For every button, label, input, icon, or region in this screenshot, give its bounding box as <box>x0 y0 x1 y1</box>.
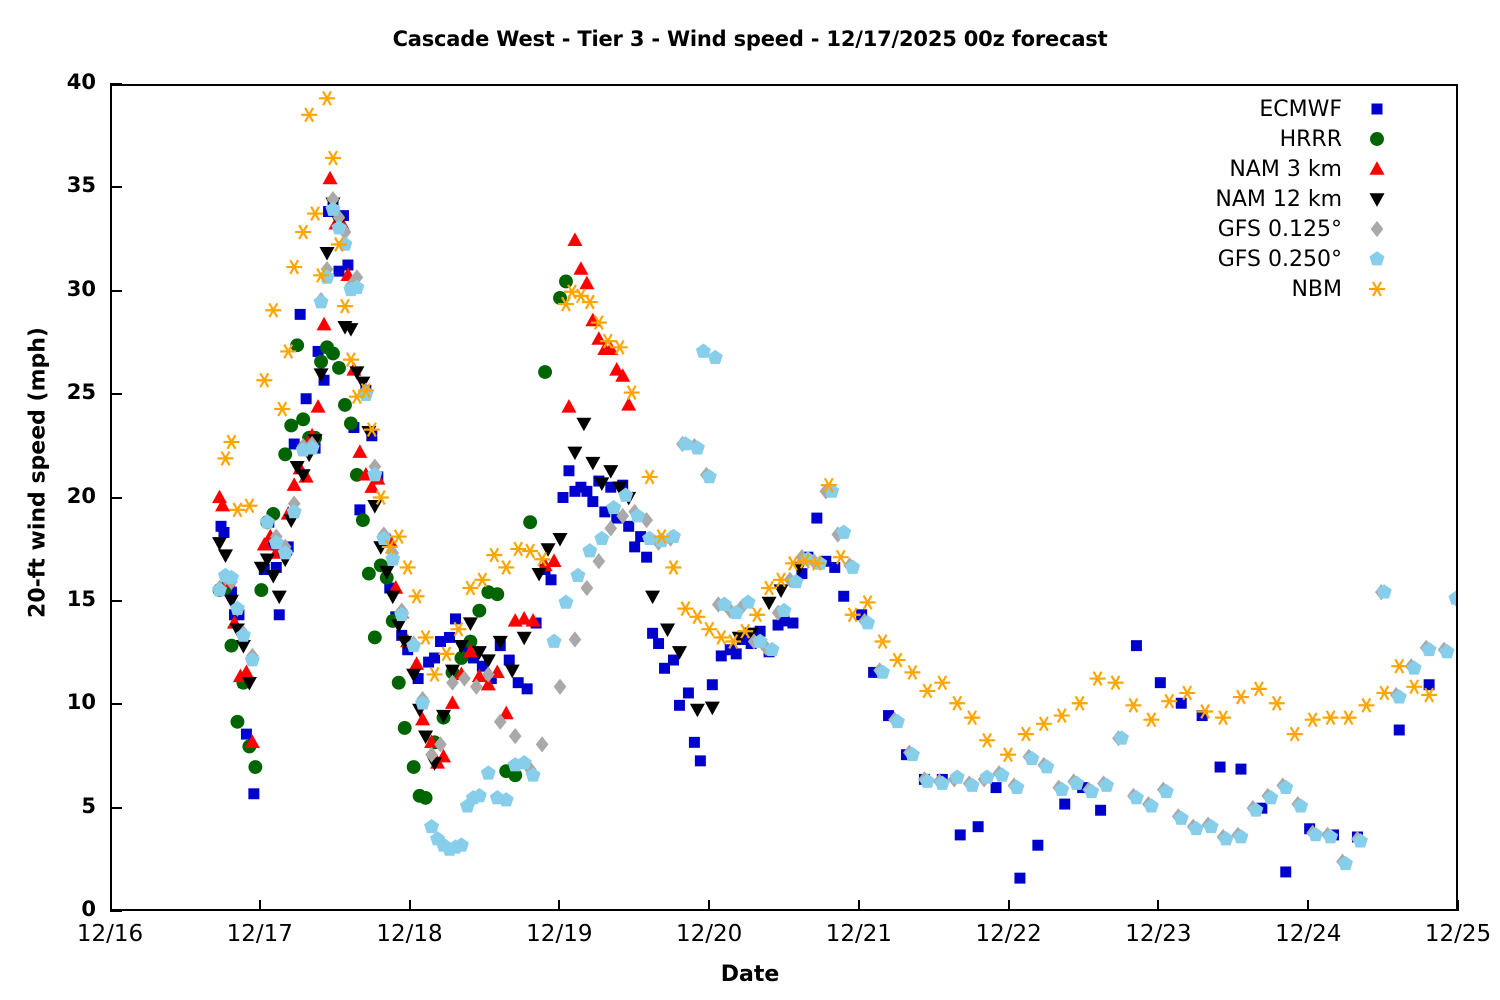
y-tick-label: 10 <box>16 690 96 714</box>
y-tick-label: 30 <box>16 277 96 301</box>
data-point <box>950 769 965 783</box>
data-point <box>385 591 400 605</box>
data-point <box>579 276 594 290</box>
x-tick-label: 12/23 <box>1083 921 1233 947</box>
data-point <box>523 515 537 529</box>
legend-item-nam-3-km[interactable]: NAM 3 km <box>1140 154 1390 184</box>
data-point <box>949 696 965 710</box>
x-tick-label: 12/21 <box>784 921 934 947</box>
data-point <box>407 760 421 774</box>
data-point <box>641 552 652 563</box>
pentagon-marker-icon <box>1364 246 1390 272</box>
data-point <box>964 711 980 725</box>
data-point <box>919 684 935 698</box>
data-point <box>708 350 723 364</box>
data-point <box>1155 677 1166 688</box>
data-point <box>394 607 409 621</box>
data-point <box>569 631 582 647</box>
legend-item-label: GFS 0.125° <box>1218 217 1364 242</box>
data-point <box>337 299 353 313</box>
data-point <box>225 639 239 653</box>
data-point <box>256 373 272 387</box>
y-tick-label: 20 <box>16 484 96 508</box>
legend-item-nam-12-km[interactable]: NAM 12 km <box>1140 184 1390 214</box>
data-point <box>749 608 765 622</box>
data-point <box>472 788 487 802</box>
x-tick-label: 12/25 <box>1383 921 1500 947</box>
data-point <box>787 618 798 629</box>
data-point <box>278 447 292 461</box>
data-point <box>317 317 332 331</box>
data-point <box>668 655 679 666</box>
data-point <box>212 490 227 504</box>
data-point <box>241 729 252 740</box>
data-point <box>287 504 302 518</box>
data-point <box>266 570 281 584</box>
data-point <box>690 704 705 718</box>
data-point <box>474 573 490 587</box>
data-point <box>689 610 705 624</box>
wind-speed-scatter-chart: Cascade West - Tier 3 - Wind speed - 12/… <box>0 0 1500 1000</box>
data-point <box>505 665 520 679</box>
data-point <box>538 365 552 379</box>
data-point <box>254 583 268 597</box>
data-point <box>325 151 341 165</box>
data-point <box>558 595 573 609</box>
x-axis-label: Date <box>0 962 1500 987</box>
data-point <box>623 521 634 532</box>
data-point <box>1114 730 1129 744</box>
data-point <box>286 260 302 274</box>
data-point <box>356 513 370 527</box>
data-point <box>1095 805 1106 816</box>
data-point <box>1032 840 1043 851</box>
data-point <box>490 587 504 601</box>
data-point <box>284 419 298 433</box>
data-point <box>415 712 430 726</box>
data-point <box>600 334 616 348</box>
data-point <box>314 355 328 369</box>
data-point <box>860 596 876 610</box>
data-point <box>581 486 592 497</box>
data-point <box>594 531 609 545</box>
data-point <box>1448 590 1456 604</box>
chart-legend: ECMWFHRRRNAM 3 kmNAM 12 kmGFS 0.125°GFS … <box>1140 94 1390 304</box>
legend-item-label: NBM <box>1291 277 1364 302</box>
triangle-up-marker-icon <box>1364 156 1390 182</box>
data-point <box>274 402 290 416</box>
data-point <box>606 500 621 514</box>
data-point <box>409 589 425 603</box>
data-point <box>218 452 234 466</box>
data-point <box>536 736 549 752</box>
data-point <box>838 591 849 602</box>
data-point <box>367 467 382 481</box>
data-point <box>558 492 569 503</box>
data-point <box>678 436 693 450</box>
square-marker-icon <box>1364 96 1390 122</box>
data-point <box>701 622 717 636</box>
data-point <box>836 525 851 539</box>
data-point <box>629 541 640 552</box>
data-point <box>265 303 281 317</box>
data-point <box>1000 748 1016 762</box>
data-point <box>295 309 306 320</box>
legend-item-nbm[interactable]: NBM <box>1140 274 1390 304</box>
data-point <box>890 653 906 667</box>
data-point <box>1280 866 1291 877</box>
data-point <box>301 108 317 122</box>
data-point <box>561 399 576 413</box>
data-point <box>576 418 591 432</box>
data-point <box>362 567 376 581</box>
data-point <box>1014 873 1025 884</box>
data-point <box>934 676 950 690</box>
x-tick-label: 12/16 <box>35 921 185 947</box>
data-point <box>683 687 694 698</box>
data-point <box>462 581 478 595</box>
data-point <box>332 361 346 375</box>
data-point <box>338 398 352 412</box>
data-point <box>762 597 777 611</box>
data-point <box>352 444 367 458</box>
triangle-down-marker-icon <box>1364 186 1390 212</box>
data-point <box>811 513 822 524</box>
data-point <box>695 755 706 766</box>
data-point <box>1341 711 1357 725</box>
data-point <box>567 232 582 246</box>
legend-item-label: HRRR <box>1280 127 1364 152</box>
data-point <box>1235 764 1246 775</box>
data-point <box>323 171 338 185</box>
data-point <box>248 788 259 799</box>
data-point <box>486 548 502 562</box>
data-point <box>454 837 469 851</box>
data-point <box>991 782 1002 793</box>
data-point <box>517 632 532 646</box>
data-point <box>761 581 777 595</box>
data-point <box>647 628 658 639</box>
data-point <box>603 465 618 479</box>
data-point <box>212 537 227 551</box>
data-point <box>424 819 439 833</box>
y-tick-label: 25 <box>16 380 96 404</box>
data-point <box>660 624 675 638</box>
data-point <box>400 561 416 575</box>
data-point <box>326 347 340 361</box>
data-point <box>1287 727 1303 741</box>
data-point <box>1406 680 1422 694</box>
data-point <box>582 543 597 557</box>
x-tick-label: 12/18 <box>335 921 485 947</box>
data-point <box>219 527 230 538</box>
legend-item-label: NAM 12 km <box>1215 187 1364 212</box>
data-point <box>409 656 424 670</box>
data-point <box>427 668 443 682</box>
data-point <box>1131 640 1142 651</box>
data-point <box>731 648 742 659</box>
data-point <box>517 755 532 769</box>
legend-item-hrrr[interactable]: HRRR <box>1140 124 1390 154</box>
data-point <box>546 574 557 585</box>
x-tick-label: 12/17 <box>185 921 335 947</box>
data-point <box>624 386 640 400</box>
data-point <box>301 393 312 404</box>
legend-item-label: NAM 3 km <box>1229 157 1364 182</box>
x-tick-label: 12/19 <box>484 921 634 947</box>
data-point <box>570 568 585 582</box>
circle-marker-icon <box>1364 126 1390 152</box>
data-point <box>585 457 600 471</box>
data-point <box>875 635 891 649</box>
data-point <box>522 683 533 694</box>
data-point <box>472 604 486 618</box>
y-tick-label: 40 <box>16 70 96 94</box>
data-point <box>1215 762 1226 773</box>
data-point <box>591 331 606 345</box>
data-point <box>498 561 514 575</box>
data-point <box>510 542 526 556</box>
data-point <box>1358 698 1374 712</box>
series-ecmwf <box>216 202 1435 884</box>
data-point <box>1090 672 1106 686</box>
legend-item-ecmwf[interactable]: ECMWF <box>1140 94 1390 124</box>
data-point <box>287 477 302 491</box>
data-point <box>311 399 326 413</box>
data-point <box>307 207 323 221</box>
y-tick-label: 15 <box>16 587 96 611</box>
data-point <box>296 412 310 426</box>
data-point <box>230 715 244 729</box>
data-point <box>674 700 685 711</box>
y-tick-label: 0 <box>16 897 96 921</box>
data-point <box>392 676 406 690</box>
legend-item-gfs-0-125[interactable]: GFS 0.125° <box>1140 214 1390 244</box>
data-point <box>344 417 358 431</box>
data-point <box>741 595 756 609</box>
data-point <box>1059 799 1070 810</box>
data-point <box>444 632 455 643</box>
data-point <box>563 465 574 476</box>
data-point <box>581 580 594 596</box>
data-point <box>776 603 791 617</box>
data-point <box>689 737 700 748</box>
data-point <box>573 261 588 275</box>
data-point <box>522 544 538 558</box>
data-point <box>1125 698 1141 712</box>
data-point <box>419 791 433 805</box>
data-point <box>973 821 984 832</box>
data-point <box>705 702 720 716</box>
diamond-marker-icon <box>1364 216 1390 242</box>
data-point <box>376 531 391 545</box>
data-point <box>707 679 718 690</box>
data-point <box>1394 725 1405 736</box>
legend-item-gfs-0-250[interactable]: GFS 0.250° <box>1140 244 1390 274</box>
data-point <box>1036 717 1052 731</box>
data-point <box>1376 686 1392 700</box>
data-point <box>481 765 496 779</box>
data-point <box>509 728 522 744</box>
data-point <box>1176 698 1187 709</box>
chart-title: Cascade West - Tier 3 - Wind speed - 12/… <box>0 27 1500 51</box>
data-point <box>1269 696 1285 710</box>
data-point <box>504 655 515 666</box>
data-point <box>368 630 382 644</box>
data-point <box>272 591 287 605</box>
data-point <box>1215 711 1231 725</box>
data-point <box>979 733 995 747</box>
data-point <box>653 638 664 649</box>
data-point <box>398 721 412 735</box>
data-point <box>582 295 598 309</box>
data-point <box>1161 694 1177 708</box>
y-tick-label: 5 <box>16 794 96 818</box>
data-point <box>547 634 562 648</box>
data-point <box>429 653 440 664</box>
data-point <box>774 584 789 598</box>
data-point <box>274 609 285 620</box>
data-point <box>245 652 260 666</box>
data-point <box>559 275 573 289</box>
data-point <box>320 247 335 261</box>
data-point <box>1108 676 1124 690</box>
data-point <box>1323 711 1339 725</box>
data-point <box>445 695 460 709</box>
data-point <box>439 647 455 661</box>
data-point <box>295 225 311 239</box>
data-point <box>904 665 920 679</box>
data-point <box>223 435 239 449</box>
data-point <box>829 562 840 573</box>
data-point <box>367 500 382 514</box>
data-point <box>314 294 329 308</box>
data-point <box>1143 713 1159 727</box>
data-point <box>1072 696 1088 710</box>
data-point <box>1377 584 1392 598</box>
data-point <box>1018 727 1034 741</box>
data-point <box>1305 713 1321 727</box>
data-point <box>587 496 598 507</box>
data-point <box>1054 709 1070 723</box>
y-axis-label: 20-ft wind speed (mph) <box>26 273 51 673</box>
data-point <box>642 470 658 484</box>
data-point <box>1251 682 1267 696</box>
data-point <box>980 769 995 783</box>
data-point <box>1233 690 1249 704</box>
legend-item-label: GFS 0.250° <box>1218 247 1364 272</box>
x-tick-label: 12/20 <box>634 921 784 947</box>
data-point <box>343 353 359 367</box>
data-point <box>955 829 966 840</box>
data-point <box>567 447 582 461</box>
data-point <box>645 591 660 605</box>
asterisk-marker-icon <box>1364 276 1390 302</box>
data-point <box>248 760 262 774</box>
legend-item-label: ECMWF <box>1259 97 1364 122</box>
x-tick-label: 12/22 <box>934 921 1084 947</box>
data-point <box>554 679 567 695</box>
data-point <box>666 561 682 575</box>
data-point <box>677 602 693 616</box>
y-tick-label: 35 <box>16 173 96 197</box>
data-point <box>415 695 430 709</box>
data-point <box>319 91 335 105</box>
data-point <box>696 344 711 358</box>
x-tick-label: 12/24 <box>1233 921 1383 947</box>
data-point <box>218 549 233 563</box>
data-point <box>418 631 434 645</box>
data-point <box>1391 659 1407 673</box>
